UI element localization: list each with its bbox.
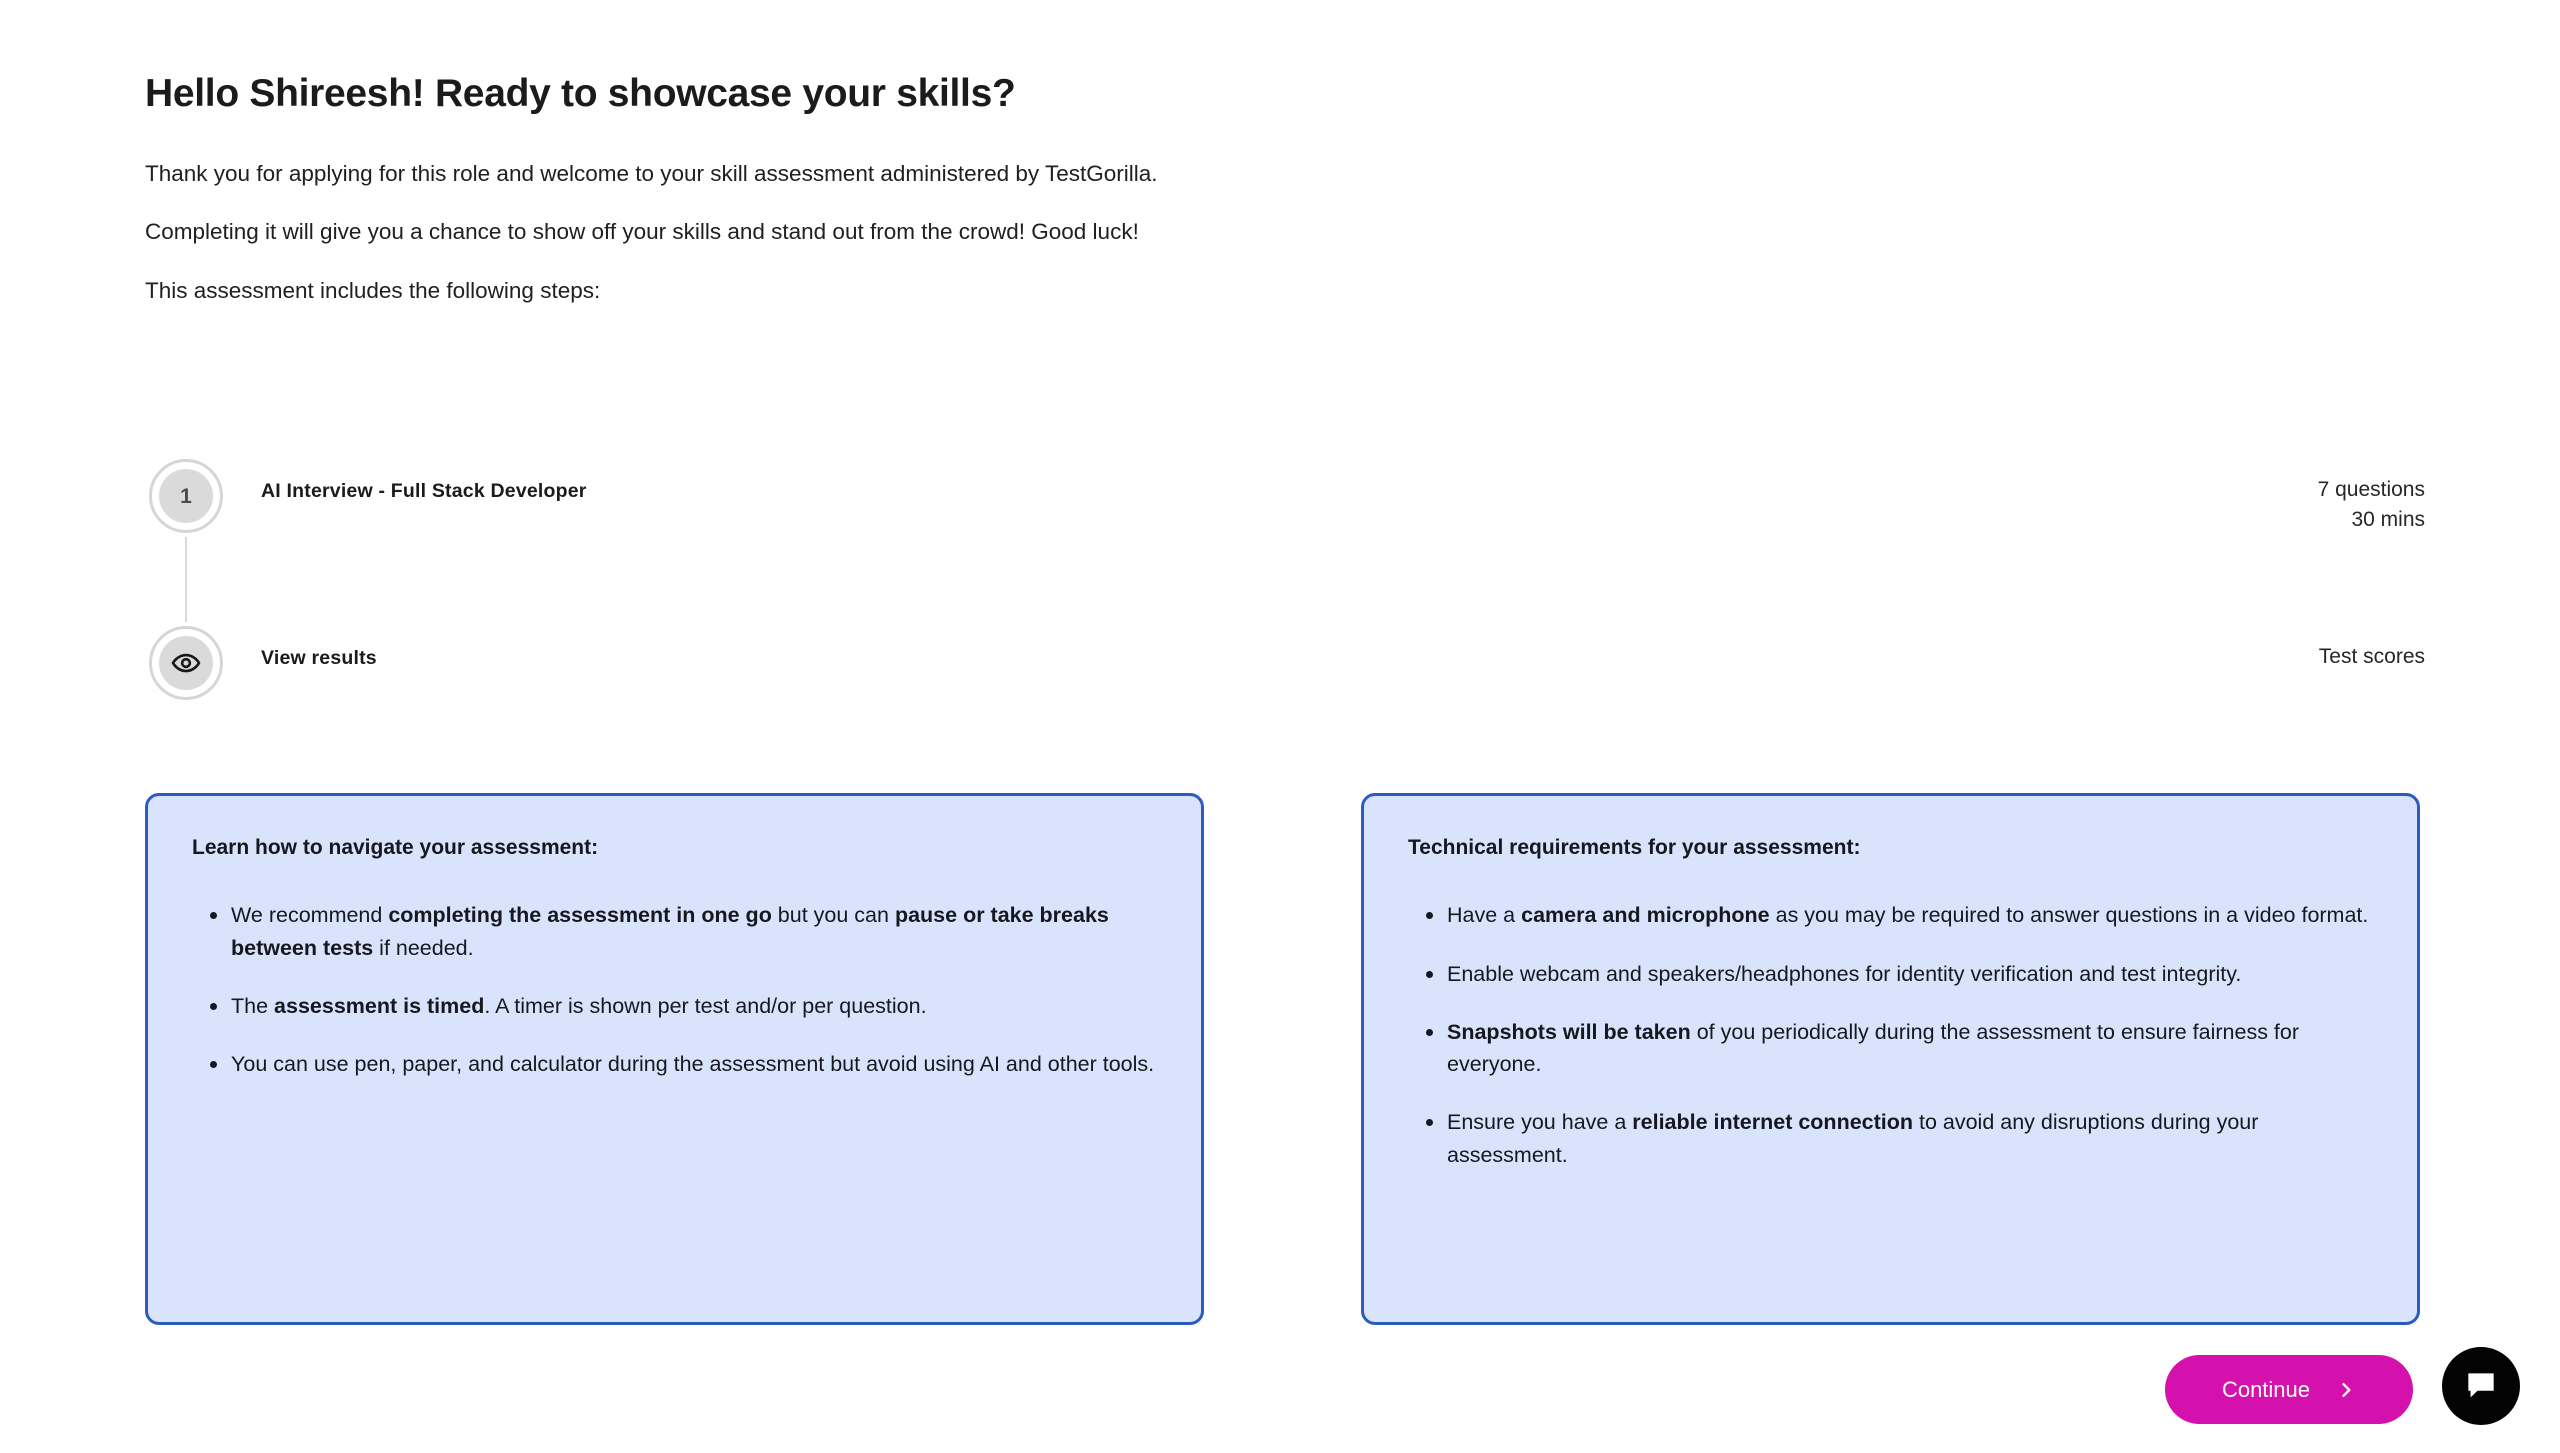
continue-button[interactable]: Continue [2165,1355,2413,1424]
chat-bubble-icon [2462,1367,2500,1405]
step-body-view-results: View results [227,622,2319,671]
list-item-text: if needed. [373,936,473,960]
step-marker-disc: 1 [159,469,213,523]
list-item: Ensure you have a reliable internet conn… [1408,1106,2373,1171]
card-heading: Learn how to navigate your assessment: [192,834,1157,861]
list-item-text: but you can [772,903,895,927]
card-bullet-list: Have a camera and microphone as you may … [1408,899,2373,1171]
list-item-text: Have a [1447,903,1521,927]
list-item: You can use pen, paper, and calculator d… [192,1048,1157,1080]
list-item-emphasis: reliable internet connection [1632,1110,1913,1134]
assessment-steps-list: 1 AI Interview - Full Stack Developer 7 … [145,455,2425,704]
list-item: Have a camera and microphone as you may … [1408,899,2373,931]
card-technical-requirements: Technical requirements for your assessme… [1361,793,2420,1325]
chevron-right-icon [2336,1380,2356,1400]
step-marker-disc [159,636,213,690]
step-meta-duration: 30 mins [2318,505,2425,535]
list-item-emphasis: completing the assessment in one go [388,903,772,927]
intro-paragraph-steps-lead: This assessment includes the following s… [145,275,2425,308]
assessment-intro-page: Hello Shireesh! Ready to showcase your s… [0,0,2560,1453]
page-title: Hello Shireesh! Ready to showcase your s… [145,72,2425,117]
step-body-ai-interview: AI Interview - Full Stack Developer [227,455,2318,504]
step-title: View results [261,646,2319,671]
continue-button-label: Continue [2222,1379,2310,1401]
list-item-text: The [231,994,274,1018]
card-heading: Technical requirements for your assessme… [1408,834,2373,861]
list-item-text: . A timer is shown per test and/or per q… [484,994,926,1018]
list-item-text: We recommend [231,903,388,927]
step-marker-2 [145,622,227,704]
step-title: AI Interview - Full Stack Developer [261,479,2318,504]
list-item: Enable webcam and speakers/headphones fo… [1408,958,2373,990]
intro-paragraph-encouragement: Completing it will give you a chance to … [145,216,2425,249]
intro-section: Hello Shireesh! Ready to showcase your s… [145,72,2425,308]
list-item-text: Ensure you have a [1447,1110,1632,1134]
list-item-text: You can use pen, paper, and calculator d… [231,1052,1154,1076]
step-row-ai-interview: 1 AI Interview - Full Stack Developer 7 … [145,455,2425,537]
list-item: Snapshots will be taken of you periodica… [1408,1016,2373,1081]
card-bullet-list: We recommend completing the assessment i… [192,899,1157,1080]
list-item-emphasis: Snapshots will be taken [1447,1020,1691,1044]
intro-paragraph-welcome: Thank you for applying for this role and… [145,158,2425,191]
step-meta-ai-interview: 7 questions 30 mins [2318,455,2425,536]
card-navigate-assessment: Learn how to navigate your assessment: W… [145,793,1204,1325]
step-meta-view-results: Test scores [2319,622,2425,672]
step-meta-questions: 7 questions [2318,475,2425,505]
step-row-view-results: View results Test scores [145,622,2425,704]
step-spacer [145,537,2425,622]
list-item: The assessment is timed. A timer is show… [192,990,1157,1022]
list-item-text: as you may be required to answer questio… [1770,903,2369,927]
chat-launcher-button[interactable] [2442,1347,2520,1425]
list-item-emphasis: assessment is timed [274,994,484,1018]
step-number-label: 1 [180,486,192,507]
info-cards: Learn how to navigate your assessment: W… [145,793,2420,1325]
list-item: We recommend completing the assessment i… [192,899,1157,964]
list-item-emphasis: camera and microphone [1521,903,1770,927]
step-meta-scores: Test scores [2319,642,2425,672]
step-connector-line [185,537,187,622]
list-item-text: Enable webcam and speakers/headphones fo… [1447,962,2241,986]
eye-icon [171,648,201,678]
step-marker-1: 1 [145,455,227,537]
